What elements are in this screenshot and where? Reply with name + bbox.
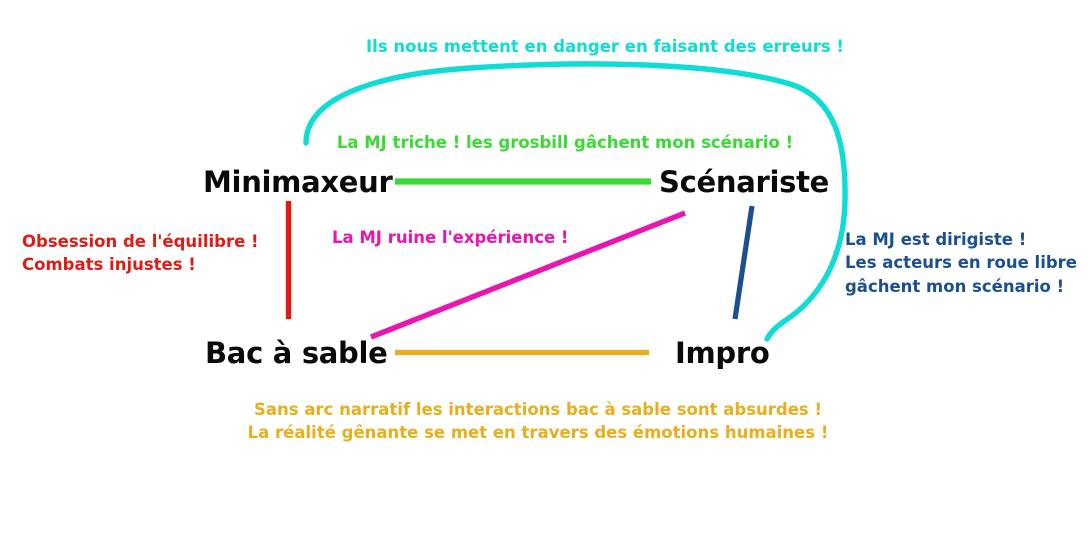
node-bac-a-sable[interactable]: Bac à sable	[205, 336, 388, 370]
edge-label-magenta-line-1: La MJ ruine l'expérience !	[332, 226, 592, 249]
node-impro[interactable]: Impro	[675, 336, 770, 370]
edge-label-orange: Sans arc narratif les interactions bac à…	[238, 398, 838, 445]
edge-blue-scenariste-impro	[735, 206, 752, 319]
edge-label-cyan: Ils nous mettent en danger en faisant de…	[360, 35, 850, 58]
edge-cyan-minimaxeur-impro	[306, 64, 845, 339]
edge-label-cyan-line-1: Ils nous mettent en danger en faisant de…	[360, 35, 850, 58]
edge-label-blue-line-3: gâchent mon scénario !	[845, 275, 1085, 298]
edge-label-magenta: La MJ ruine l'expérience !	[332, 226, 592, 249]
diagram-canvas: Minimaxeur Scénariste Bac à sable Impro …	[0, 0, 1090, 545]
edge-label-blue-line-1: La MJ est dirigiste !	[845, 228, 1085, 251]
edge-label-orange-line-1: Sans arc narratif les interactions bac à…	[238, 398, 838, 421]
node-scenariste[interactable]: Scénariste	[659, 165, 829, 199]
edge-label-green-line-1: La MJ triche ! les grosbill gâchent mon …	[330, 131, 800, 154]
edge-label-blue-line-2: Les acteurs en roue libre	[845, 251, 1085, 274]
edge-label-red: Obsession de l'équilibre ! Combats injus…	[22, 230, 292, 277]
edge-label-green: La MJ triche ! les grosbill gâchent mon …	[330, 131, 800, 154]
edge-label-orange-line-2: La réalité gênante se met en travers des…	[238, 421, 838, 444]
edge-label-red-line-1: Obsession de l'équilibre !	[22, 230, 292, 253]
edge-label-blue: La MJ est dirigiste ! Les acteurs en rou…	[845, 228, 1085, 298]
node-minimaxeur[interactable]: Minimaxeur	[203, 165, 393, 199]
edge-label-red-line-2: Combats injustes !	[22, 253, 292, 276]
